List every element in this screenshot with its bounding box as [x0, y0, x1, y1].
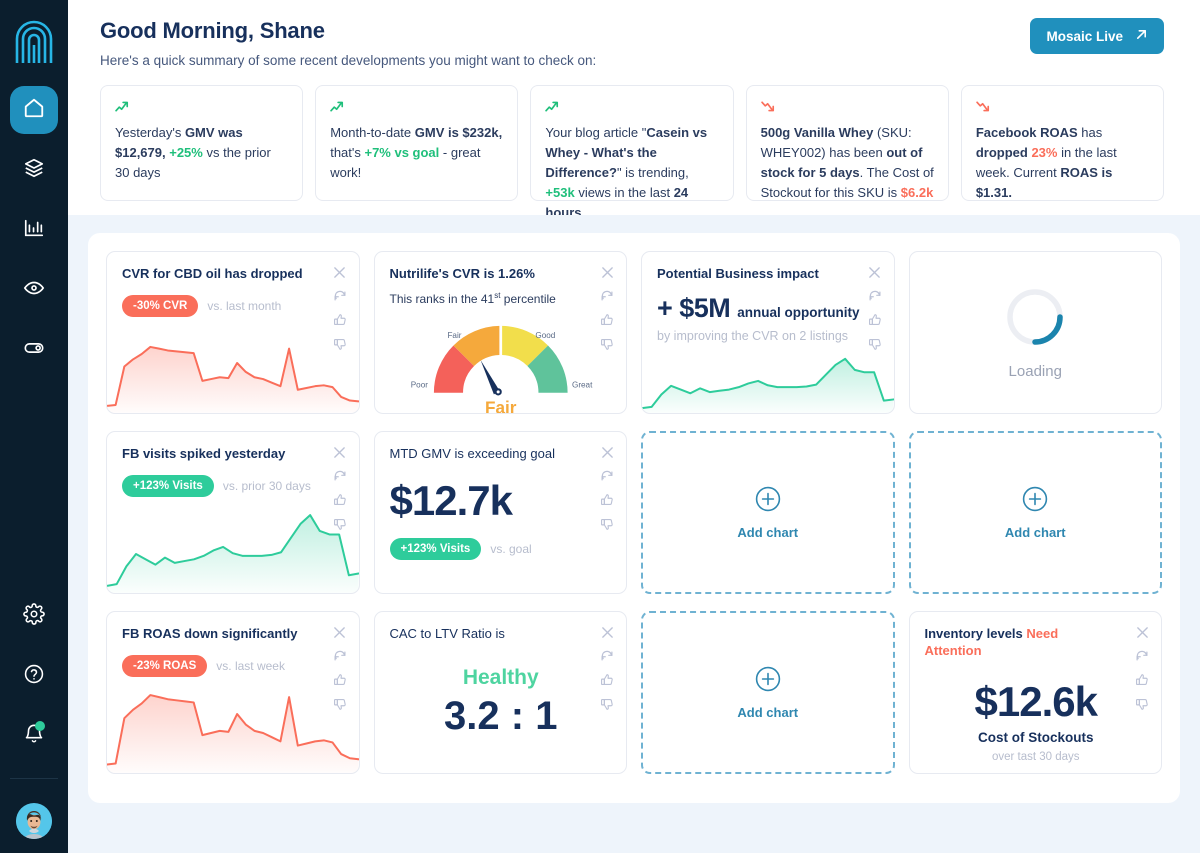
- summary-card[interactable]: Month-to-date GMV is $232k, that's +7% v…: [315, 85, 518, 201]
- refresh-icon[interactable]: [1133, 647, 1151, 665]
- card-cac-ltv[interactable]: CAC to LTV Ratio is Healthy 3.2 : 1: [374, 611, 628, 774]
- summary-card-text: 500g Vanilla Whey (SKU: WHEY002) has bee…: [761, 123, 934, 203]
- gear-icon: [23, 603, 45, 630]
- card-title: FB ROAS down significantly: [122, 625, 345, 642]
- question-circle-icon: [23, 663, 45, 690]
- card-title: Potential Business impact: [657, 265, 880, 282]
- rank-suffix: percentile: [500, 292, 555, 306]
- card-title: Inventory levels Need Attention: [925, 625, 1148, 659]
- page-title: Good Morning, Shane: [100, 18, 596, 44]
- inventory-title-main: Inventory levels: [925, 626, 1027, 641]
- loading-spinner-icon: [1004, 286, 1066, 353]
- close-icon[interactable]: [331, 623, 349, 641]
- plus-circle-icon: [1022, 486, 1048, 517]
- sidebar-item-monitor[interactable]: [10, 266, 58, 314]
- sidebar-item-toggle[interactable]: [10, 326, 58, 374]
- close-icon[interactable]: [866, 263, 884, 281]
- impact-value: + $5M: [657, 293, 730, 324]
- percentile-text: This ranks in the 41st percentile: [390, 291, 613, 306]
- add-chart-label: Add chart: [1005, 525, 1066, 540]
- close-icon[interactable]: [331, 263, 349, 281]
- summary-card[interactable]: Your blog article "Casein vs Whey - What…: [530, 85, 733, 201]
- trend-up-icon: [545, 100, 718, 114]
- plus-circle-icon: [755, 486, 781, 517]
- card-actions: [866, 263, 884, 353]
- status-badge: +123% Visits: [390, 538, 482, 560]
- toggle-switch-icon: [23, 337, 45, 364]
- summary-card-text: Month-to-date GMV is $232k, that's +7% v…: [330, 123, 503, 183]
- card-title: Nutrilife's CVR is 1.26%: [390, 265, 613, 282]
- main-content: Good Morning, Shane Here's a quick summa…: [68, 0, 1200, 853]
- rank-prefix: This ranks in the 41: [390, 292, 495, 306]
- gauge-label-great: Great: [572, 381, 593, 390]
- add-chart-label: Add chart: [737, 525, 798, 540]
- sidebar-item-settings[interactable]: [10, 596, 58, 636]
- close-icon[interactable]: [598, 443, 616, 461]
- add-chart-label: Add chart: [737, 705, 798, 720]
- sparkline-svg: [107, 501, 359, 593]
- loading-label: Loading: [1009, 363, 1062, 380]
- sidebar: [0, 0, 68, 853]
- summary-card[interactable]: Facebook ROAS has dropped 23% in the las…: [961, 85, 1164, 201]
- card-title: CAC to LTV Ratio is: [390, 625, 613, 642]
- refresh-icon[interactable]: [598, 287, 616, 305]
- cac-ltv-value: 3.2 : 1: [390, 694, 613, 739]
- layers-icon: [23, 157, 45, 184]
- trend-up-icon: [115, 100, 288, 114]
- close-icon[interactable]: [1133, 623, 1151, 641]
- card-actions: [598, 623, 616, 713]
- summary-card[interactable]: 500g Vanilla Whey (SKU: WHEY002) has bee…: [746, 85, 949, 201]
- thumbs-up-icon[interactable]: [866, 311, 884, 329]
- refresh-icon[interactable]: [598, 467, 616, 485]
- fb-roas-sparkline: [107, 681, 359, 773]
- status-badge: -30% CVR: [122, 295, 198, 317]
- close-icon[interactable]: [331, 443, 349, 461]
- refresh-icon[interactable]: [331, 647, 349, 665]
- dashboard-panel: CVR for CBD oil has dropped -30% CVR vs.…: [88, 233, 1180, 803]
- arrow-up-right-icon: [1135, 28, 1148, 44]
- thumbs-down-icon[interactable]: [598, 515, 616, 533]
- add-chart-placeholder[interactable]: Add chart: [909, 431, 1163, 594]
- business-impact-sparkline: [642, 349, 894, 413]
- notification-badge-dot: [35, 721, 45, 731]
- plus-circle-icon: [755, 666, 781, 697]
- close-icon[interactable]: [598, 623, 616, 641]
- thumbs-down-icon[interactable]: [1133, 695, 1151, 713]
- sidebar-divider: [10, 778, 58, 779]
- card-fb-visits[interactable]: FB visits spiked yesterday +123% Visits …: [106, 431, 360, 594]
- cac-ltv-status: Healthy: [390, 666, 613, 690]
- status-badge: +123% Visits: [122, 475, 214, 497]
- sidebar-bottom: [0, 596, 68, 839]
- eye-icon: [23, 277, 45, 304]
- sidebar-item-analytics[interactable]: [10, 206, 58, 254]
- sidebar-item-home[interactable]: [10, 86, 58, 134]
- summary-card[interactable]: Yesterday's GMV was $12,679, +25% vs the…: [100, 85, 303, 201]
- cvr-cbd-sparkline: [107, 335, 359, 413]
- gauge-verdict: Fair: [485, 397, 517, 414]
- close-icon[interactable]: [598, 263, 616, 281]
- home-icon: [23, 97, 45, 124]
- thumbs-down-icon[interactable]: [598, 695, 616, 713]
- sidebar-item-help[interactable]: [10, 656, 58, 696]
- gauge-label-fair: Fair: [447, 331, 461, 340]
- add-chart-placeholder[interactable]: Add chart: [641, 431, 895, 594]
- sparkline-svg: [107, 335, 359, 413]
- refresh-icon[interactable]: [866, 287, 884, 305]
- dashboard-background: CVR for CBD oil has dropped -30% CVR vs.…: [68, 215, 1200, 853]
- badge-note: vs. last week: [216, 659, 285, 673]
- trend-down-icon: [761, 100, 934, 114]
- badge-note: vs. last month: [207, 299, 281, 313]
- summary-cards-row: Yesterday's GMV was $12,679, +25% vs the…: [100, 85, 1164, 201]
- fb-visits-sparkline: [107, 501, 359, 593]
- card-business-impact[interactable]: Potential Business impact + $5M annual o…: [641, 251, 895, 414]
- mosaic-logo[interactable]: [11, 16, 57, 68]
- card-loading: Loading: [909, 251, 1163, 414]
- badge-note: vs. goal: [490, 542, 531, 556]
- mosaic-live-label: Mosaic Live: [1046, 29, 1123, 44]
- app-root: Good Morning, Shane Here's a quick summa…: [0, 0, 1200, 853]
- card-fb-roas[interactable]: FB ROAS down significantly -23% ROAS vs.…: [106, 611, 360, 774]
- impact-value-label: annual opportunity: [737, 305, 859, 320]
- inventory-subtext: over tast 30 days: [925, 751, 1148, 763]
- card-title: MTD GMV is exceeding goal: [390, 445, 613, 462]
- sidebar-item-layers[interactable]: [10, 146, 58, 194]
- thumbs-up-icon[interactable]: [1133, 671, 1151, 689]
- cards-grid: CVR for CBD oil has dropped -30% CVR vs.…: [106, 251, 1162, 774]
- gauge-label-poor: Poor: [410, 381, 427, 390]
- refresh-icon[interactable]: [331, 287, 349, 305]
- trend-down-icon: [976, 100, 1149, 114]
- user-avatar[interactable]: [16, 803, 52, 839]
- badge-note: vs. prior 30 days: [223, 479, 311, 493]
- thumbs-up-icon[interactable]: [598, 491, 616, 509]
- summary-card-text: Facebook ROAS has dropped 23% in the las…: [976, 123, 1149, 203]
- sidebar-item-notifications[interactable]: [10, 716, 58, 756]
- gauge-svg: Poor Fair Good Great Fair: [375, 319, 627, 414]
- card-nutrilife-cvr[interactable]: Nutrilife's CVR is 1.26% This ranks in t…: [374, 251, 628, 414]
- cvr-gauge: Poor Fair Good Great Fair: [375, 319, 627, 414]
- sparkline-svg: [642, 349, 894, 413]
- impact-subtext: by improving the CVR on 2 listings: [657, 329, 880, 343]
- mosaic-live-button[interactable]: Mosaic Live: [1030, 18, 1164, 54]
- thumbs-up-icon[interactable]: [598, 671, 616, 689]
- bar-chart-icon: [23, 217, 45, 244]
- sparkline-svg: [107, 681, 359, 773]
- sidebar-nav: [10, 86, 58, 374]
- card-inventory[interactable]: Inventory levels Need Attention $12.6k C…: [909, 611, 1163, 774]
- card-title: FB visits spiked yesterday: [122, 445, 345, 462]
- card-actions: [1133, 623, 1151, 713]
- summary-card-text: Your blog article "Casein vs Whey - What…: [545, 123, 718, 223]
- card-title: CVR for CBD oil has dropped: [122, 265, 345, 282]
- mtd-gmv-value: $12.7k: [390, 480, 613, 522]
- card-mtd-gmv[interactable]: MTD GMV is exceeding goal $12.7k +123% V…: [374, 431, 628, 594]
- add-chart-placeholder[interactable]: Add chart: [641, 611, 895, 774]
- refresh-icon[interactable]: [598, 647, 616, 665]
- card-actions: [598, 443, 616, 533]
- refresh-icon[interactable]: [331, 467, 349, 485]
- gauge-label-good: Good: [535, 331, 555, 340]
- inventory-label: Cost of Stockouts: [925, 730, 1148, 745]
- thumbs-up-icon[interactable]: [331, 311, 349, 329]
- card-cvr-cbd[interactable]: CVR for CBD oil has dropped -30% CVR vs.…: [106, 251, 360, 414]
- summary-card-text: Yesterday's GMV was $12,679, +25% vs the…: [115, 123, 288, 183]
- inventory-value: $12.6k: [925, 681, 1148, 723]
- trend-up-icon: [330, 100, 503, 114]
- status-badge: -23% ROAS: [122, 655, 207, 677]
- page-subtitle: Here's a quick summary of some recent de…: [100, 53, 596, 68]
- header-area: Good Morning, Shane Here's a quick summa…: [68, 0, 1200, 201]
